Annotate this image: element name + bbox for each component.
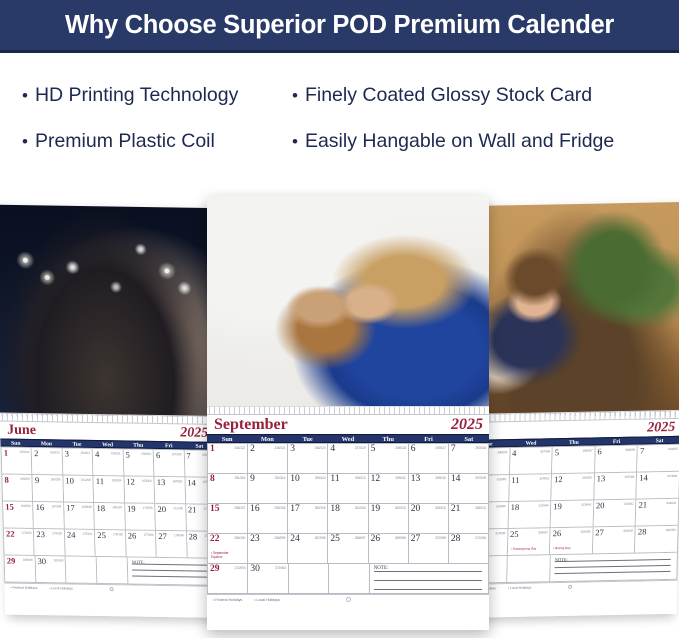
day-number: 30 <box>250 565 260 575</box>
day-cell[interactable]: 18321/044 <box>508 501 551 529</box>
day-number: 1 <box>4 449 8 458</box>
day-cell[interactable]: 27178/188 <box>156 531 187 558</box>
day-number: 5 <box>371 445 376 455</box>
product-infographic: Why Choose Superior POD Premium Calender… <box>0 0 679 638</box>
note-line <box>374 571 482 572</box>
julian-day-counter: 260/105 <box>315 506 326 510</box>
day-number: 3 <box>65 450 69 459</box>
day-cell[interactable]: 5156/210 <box>123 449 154 476</box>
calendar-november: r2025TueWedThuFriSat3306/0594307/0585308… <box>462 202 679 618</box>
day-number: 27 <box>595 528 604 537</box>
feature-item-plastic-coil: • Premium Plastic Coil <box>22 130 215 153</box>
week-row: 1244/1222245/1213246/1204247/1195248/118… <box>208 444 489 474</box>
month-label: September <box>214 417 288 433</box>
julian-day-counter: 271/094 <box>475 536 486 540</box>
julian-day-counter: 269/096 <box>395 536 406 540</box>
day-cell[interactable] <box>507 555 551 583</box>
day-number: 15 <box>210 505 220 515</box>
feature-item-hd-printing: • HD Printing Technology <box>22 84 238 107</box>
day-number: 11 <box>96 477 104 486</box>
julian-day-counter: 328/037 <box>538 530 548 534</box>
day-number: 14 <box>451 475 461 485</box>
julian-day-counter: 270/095 <box>435 536 446 540</box>
day-number: 6 <box>411 445 416 455</box>
legend-item-local: • Local Holidays <box>508 586 532 590</box>
day-number: 20 <box>411 505 421 515</box>
day-cell[interactable]: 7310/055 <box>637 445 679 473</box>
year-label: 2025 <box>180 426 208 440</box>
weekday-sun: Sun <box>0 440 31 446</box>
note-writing-lines[interactable] <box>132 564 212 583</box>
day-cell[interactable]: 22173/193 <box>4 529 35 556</box>
day-cell[interactable]: 23174/192 <box>34 529 65 556</box>
julian-day-counter: 169/197 <box>112 505 122 509</box>
day-number: 24 <box>67 531 76 540</box>
julian-day-counter: 168/198 <box>82 505 92 509</box>
day-cell[interactable]: 11314/051 <box>509 474 552 502</box>
julian-day-counter: 324/041 <box>666 501 676 505</box>
day-number: 10 <box>65 477 74 486</box>
day-cell[interactable]: 1152/214 <box>2 448 33 475</box>
day-number: 18 <box>511 503 520 512</box>
julian-day-counter: 177/189 <box>143 533 153 537</box>
day-number: 28 <box>638 527 647 536</box>
day-cell[interactable]: 17260/105 <box>288 504 328 534</box>
julian-day-counter: 254/112 <box>355 476 366 480</box>
day-cell[interactable]: 10161/205 <box>63 476 94 503</box>
julian-day-counter: 157/209 <box>172 452 182 456</box>
day-cell[interactable]: 25268/097 <box>328 534 368 564</box>
julian-day-counter: 308/057 <box>583 448 593 452</box>
day-number: 18 <box>96 504 105 513</box>
julian-day-counter: 264/101 <box>475 506 486 510</box>
day-number: 12 <box>371 475 381 485</box>
day-cell[interactable]: 6249/117 <box>409 444 449 474</box>
julian-day-counter: 246/120 <box>315 446 326 450</box>
julian-day-counter: 321/044 <box>539 503 549 507</box>
julian-day-counter: 307/058 <box>540 449 550 453</box>
note-cell[interactable]: NOTE: <box>370 564 489 594</box>
day-cell[interactable]: 13316/049 <box>594 473 637 501</box>
weekday-wed: Wed <box>510 439 553 446</box>
day-cell[interactable]: 3246/120 <box>288 444 328 474</box>
day-number: 14 <box>187 478 196 487</box>
day-number: 26 <box>553 529 562 538</box>
day-number: 19 <box>371 505 381 515</box>
day-cell[interactable]: 19322/043 <box>551 500 594 528</box>
julian-day-counter: 166/200 <box>21 504 31 508</box>
day-cell[interactable]: 6157/209 <box>154 450 185 477</box>
weekday-thu: Thu <box>552 438 595 445</box>
julian-day-counter: 244/122 <box>234 446 245 450</box>
day-cell[interactable]: 4155/211 <box>93 449 124 476</box>
day-number: 26 <box>128 531 137 540</box>
year-label: 2025 <box>451 417 483 433</box>
weekday-thu: Thu <box>368 435 408 442</box>
bullet-icon: • <box>22 133 28 150</box>
julian-day-counter: 320/045 <box>496 504 506 508</box>
julian-day-counter: 329/036 <box>580 529 590 533</box>
header-banner: Why Choose Superior POD Premium Calender <box>0 0 679 53</box>
day-cell[interactable]: 12255/111 <box>369 474 409 504</box>
julian-day-counter: 171/195 <box>173 506 183 510</box>
day-number: 12 <box>126 477 135 486</box>
calendar-header: September2025 <box>207 415 489 434</box>
weekday-wed: Wed <box>92 441 123 447</box>
day-cell[interactable]: 15166/200 <box>3 502 34 529</box>
week-row: 1152/2142153/2133154/2124155/2115156/210… <box>2 448 216 478</box>
day-cell[interactable]: 1244/122 <box>208 444 248 474</box>
day-cell[interactable] <box>97 557 128 584</box>
day-cell[interactable]: 11162/204 <box>94 476 125 503</box>
julian-day-counter: 313/052 <box>497 477 507 481</box>
week-row: 8251/1159252/11410253/11311254/11212255/… <box>208 474 489 504</box>
day-number: 7 <box>186 451 190 460</box>
julian-day-counter: 331/034 <box>666 528 676 532</box>
day-number: 16 <box>250 505 260 515</box>
hanging-punch-hole <box>346 597 351 602</box>
day-cell[interactable]: 24175/191 <box>65 529 96 556</box>
julian-day-counter: 272/093 <box>235 566 246 570</box>
julian-day-counter: 245/121 <box>274 446 285 450</box>
julian-day-counter: 327/038 <box>495 531 505 535</box>
day-number: 14 <box>639 473 648 482</box>
julian-day-counter: 257/109 <box>475 476 486 480</box>
day-number: 28 <box>189 532 198 541</box>
day-cell[interactable]: 12163/203 <box>124 476 155 503</box>
holiday-annotation: • Boxing Day <box>553 547 570 551</box>
day-cell[interactable]: 6309/056 <box>595 446 638 474</box>
weekday-sun: Sun <box>207 435 247 442</box>
day-cell[interactable]: 12315/050 <box>551 473 594 501</box>
week-row: 8159/2079160/20610161/20511162/20412163/… <box>2 475 216 505</box>
weekday-thu: Thu <box>123 441 154 447</box>
day-number: 9 <box>250 475 255 485</box>
day-cell[interactable]: 25328/037• Thanksgiving Day <box>507 528 550 556</box>
day-number: 27 <box>158 532 167 541</box>
day-number: 5 <box>555 448 559 457</box>
day-number: 2 <box>250 445 255 455</box>
day-number: 12 <box>554 475 563 484</box>
day-cell[interactable]: 8251/115 <box>208 474 248 504</box>
day-number: 21 <box>451 505 461 515</box>
day-cell[interactable]: 2245/121 <box>248 444 288 474</box>
day-cell[interactable]: 19262/103 <box>369 504 409 534</box>
julian-day-counter: 162/204 <box>111 478 121 482</box>
julian-day-counter: 174/192 <box>52 531 62 535</box>
week-row: 10313/05211314/05112315/05013316/0491431… <box>466 472 679 503</box>
day-cell[interactable] <box>66 556 97 583</box>
spiral-coil-binding <box>207 406 489 415</box>
day-cell[interactable]: 26269/096 <box>369 534 409 564</box>
weekday-tue: Tue <box>62 441 93 447</box>
feature-label: Finely Coated Glossy Stock Card <box>305 84 592 107</box>
day-cell[interactable]: 28331/034 <box>635 526 678 554</box>
day-cell[interactable]: 23266/099 <box>248 534 288 564</box>
day-number: 25 <box>330 535 340 545</box>
note-line <box>132 564 211 566</box>
julian-day-counter: 255/111 <box>395 476 405 480</box>
weekday-mon: Mon <box>247 435 287 442</box>
note-writing-lines[interactable] <box>554 559 671 579</box>
note-cell[interactable]: NOTE: <box>128 557 219 585</box>
day-number: 1 <box>210 445 215 455</box>
day-number: 28 <box>451 535 461 545</box>
day-number: 9 <box>35 476 39 485</box>
hanging-punch-hole <box>568 585 573 590</box>
day-cell[interactable]: 21264/101 <box>449 504 489 534</box>
julian-day-counter: 248/118 <box>395 446 406 450</box>
day-number: 19 <box>127 504 136 513</box>
hanging-punch-hole <box>109 587 114 592</box>
day-cell[interactable]: 24267/098 <box>288 534 328 564</box>
week-row: 17320/04518321/04419322/04320323/0422132… <box>466 499 679 530</box>
day-number: 10 <box>290 475 300 485</box>
day-cell[interactable]: 22265/100• September Equinox <box>208 534 248 564</box>
note-cell[interactable]: NOTE: <box>550 553 678 582</box>
day-number: 17 <box>290 505 300 515</box>
weeks-container: 1244/1222245/1213246/1204247/1195248/118… <box>207 443 489 594</box>
julian-day-counter: 261/104 <box>355 506 366 510</box>
julian-day-counter: 153/213 <box>50 450 60 454</box>
julian-day-counter: 152/214 <box>19 450 29 454</box>
day-number: 15 <box>5 503 14 512</box>
day-cell[interactable]: 28271/094 <box>449 534 489 564</box>
day-cell[interactable]: 20263/102 <box>409 504 449 534</box>
month-label: June <box>7 424 36 438</box>
day-number: 11 <box>330 475 339 485</box>
day-number: 8 <box>210 475 215 485</box>
weeks-container: 3306/0594307/0585308/0576309/0567310/055… <box>463 444 679 584</box>
day-number: 19 <box>553 502 562 511</box>
day-cell[interactable]: 18169/197 <box>94 503 125 530</box>
day-number: 25 <box>510 530 519 539</box>
julian-day-counter: 315/050 <box>582 475 592 479</box>
day-cell[interactable]: 29180/186 <box>5 556 36 583</box>
holiday-annotation: • Thanksgiving Day <box>511 547 537 551</box>
day-number: 3 <box>290 445 295 455</box>
day-number: 29 <box>210 565 220 575</box>
julian-day-counter: 267/098 <box>315 536 326 540</box>
day-cell[interactable]: 7250/116 <box>449 444 489 474</box>
day-cell[interactable]: 26329/036• Boxing Day <box>550 527 593 555</box>
day-number: 11 <box>511 476 519 485</box>
day-number: 13 <box>157 478 166 487</box>
julian-day-counter: 176/190 <box>113 532 123 536</box>
week-row: 15258/10716259/10617260/10518261/1041926… <box>208 504 489 534</box>
julian-day-counter: 154/212 <box>80 451 90 455</box>
julian-day-counter: 167/199 <box>51 504 61 508</box>
julian-day-counter: 266/099 <box>274 536 285 540</box>
julian-day-counter: 323/042 <box>624 502 634 506</box>
julian-day-counter: 253/113 <box>315 476 326 480</box>
day-number: 21 <box>638 500 647 509</box>
day-number: 2 <box>34 449 38 458</box>
two-women-on-bed-photo <box>207 196 489 410</box>
day-number: 6 <box>156 451 160 460</box>
day-cell[interactable]: 21324/041 <box>636 499 679 527</box>
julian-day-counter: 156/210 <box>141 452 151 456</box>
day-cell[interactable] <box>329 564 369 594</box>
feature-label: HD Printing Technology <box>35 84 238 107</box>
week-row: 22173/19323174/19224175/19125176/1902617… <box>4 529 218 559</box>
day-number: 7 <box>640 447 644 456</box>
weekday-sat: Sat <box>638 437 679 444</box>
day-cell[interactable]: 2153/213 <box>32 448 63 475</box>
julian-day-counter: 163/203 <box>142 479 152 483</box>
weekday-header-bar: SunMonTueWedThuFriSat <box>207 434 489 443</box>
julian-day-counter: 252/114 <box>275 476 286 480</box>
note-writing-lines[interactable] <box>374 571 482 594</box>
julian-day-counter: 173/193 <box>22 531 32 535</box>
week-row: 29272/09330273/092NOTE: <box>208 564 489 594</box>
day-cell[interactable]: 20171/195 <box>155 504 186 531</box>
day-number: 29 <box>7 557 16 566</box>
feature-list: • HD Printing Technology • Finely Coated… <box>0 62 679 182</box>
day-cell[interactable]: 13256/110 <box>409 474 449 504</box>
day-number: 13 <box>411 475 421 485</box>
legend-item-federal: • Federal Holidays <box>213 598 242 602</box>
day-cell[interactable]: 5248/118 <box>369 444 409 474</box>
julian-day-counter: 314/051 <box>539 476 549 480</box>
day-cell[interactable]: 10253/113 <box>288 474 328 504</box>
day-cell[interactable]: 14257/109 <box>449 474 489 504</box>
julian-day-counter: 249/117 <box>435 446 446 450</box>
holiday-legend: • Federal Holidays• Local Holidays <box>207 594 489 603</box>
day-cell[interactable]: 16259/106 <box>248 504 288 534</box>
note-line <box>374 589 482 590</box>
day-number: 4 <box>330 445 335 455</box>
day-number: 16 <box>36 503 45 512</box>
day-cell[interactable]: 9160/206 <box>33 475 64 502</box>
julian-day-counter: 310/055 <box>668 447 678 451</box>
day-cell[interactable]: 30181/185 <box>35 556 66 583</box>
julian-day-counter: 247/119 <box>355 446 366 450</box>
calendar-grid-center: September2025SunMonTueWedThuFriSat1244/1… <box>207 415 489 630</box>
day-cell[interactable]: 26177/189 <box>126 530 157 557</box>
julian-day-counter: 259/106 <box>274 506 285 510</box>
day-cell[interactable]: 9252/114 <box>248 474 288 504</box>
day-cell[interactable]: 25176/190 <box>95 530 126 557</box>
day-cell[interactable]: 18261/104 <box>328 504 368 534</box>
julian-day-counter: 256/110 <box>435 476 446 480</box>
week-row: 3306/0594307/0585308/0576309/0567310/055 <box>467 445 679 476</box>
bullet-icon: • <box>292 133 298 150</box>
calendar-grid-right: r2025TueWedThuFriSat3306/0594307/0585308… <box>462 419 679 618</box>
day-number: 20 <box>157 505 166 514</box>
weekday-fri: Fri <box>595 438 638 445</box>
legend-item-federal: • Federal Holidays <box>10 586 37 590</box>
weekday-fri: Fri <box>153 442 184 448</box>
julian-day-counter: 258/107 <box>234 506 245 510</box>
day-cell[interactable]: 29272/093 <box>208 564 248 594</box>
day-number: 13 <box>597 474 606 483</box>
weeks-container: 1152/2142153/2133154/2124155/2115156/210… <box>1 447 219 586</box>
julian-day-counter: 250/116 <box>475 446 486 450</box>
day-cell[interactable]: 20323/042 <box>593 500 636 528</box>
day-number: 25 <box>97 531 106 540</box>
day-cell[interactable]: 30273/092 <box>248 564 288 594</box>
week-row: 24327/03825328/037• Thanksgiving Day2632… <box>465 526 679 557</box>
day-cell[interactable]: 5308/057 <box>552 446 595 474</box>
day-cell[interactable]: 13164/202 <box>155 477 186 504</box>
julian-day-counter: 268/097 <box>355 536 366 540</box>
day-cell[interactable]: 16167/199 <box>34 502 65 529</box>
day-number: 8 <box>4 476 8 485</box>
julian-day-counter: 181/185 <box>53 558 63 562</box>
day-number: 30 <box>37 557 46 566</box>
feature-label: Premium Plastic Coil <box>35 130 215 153</box>
julian-day-counter: 160/206 <box>51 477 61 481</box>
day-cell[interactable]: 27330/035 <box>593 527 636 555</box>
julian-day-counter: 316/049 <box>624 475 634 479</box>
day-cell[interactable]: 4307/058 <box>510 447 553 475</box>
julian-day-counter: 251/115 <box>235 476 246 480</box>
bullet-icon: • <box>292 87 298 104</box>
note-line <box>555 565 671 568</box>
day-cell[interactable]: 4247/119 <box>328 444 368 474</box>
day-cell[interactable]: 19170/196 <box>125 503 156 530</box>
julian-day-counter: 265/100 <box>234 536 245 540</box>
weekday-fri: Fri <box>408 435 448 442</box>
day-cell[interactable]: 3154/212 <box>63 449 94 476</box>
day-number: 5 <box>125 451 129 460</box>
julian-day-counter: 322/043 <box>581 502 591 506</box>
weekday-tue: Tue <box>288 435 328 442</box>
julian-day-counter: 170/196 <box>143 506 153 510</box>
julian-day-counter: 180/186 <box>23 558 33 562</box>
day-number: 21 <box>188 505 197 514</box>
year-label: 2025 <box>647 421 675 436</box>
day-cell[interactable] <box>289 564 329 594</box>
julian-day-counter: 309/056 <box>625 448 635 452</box>
wedding-sparklers-photo <box>0 205 214 420</box>
calendar-grid-left: June2025SunMonTueWedThuFriSat1152/214215… <box>0 422 219 618</box>
day-cell[interactable]: 11254/112 <box>328 474 368 504</box>
feature-item-glossy-stock: • Finely Coated Glossy Stock Card <box>292 84 592 107</box>
day-cell[interactable]: 17168/198 <box>64 502 95 529</box>
julian-day-counter: 330/035 <box>623 529 633 533</box>
day-number: 20 <box>596 501 605 510</box>
day-number: 23 <box>250 535 260 545</box>
day-cell[interactable]: 8159/207 <box>2 475 33 502</box>
julian-day-counter: 262/103 <box>395 506 406 510</box>
week-row: 15166/20016167/19917168/19818169/1971917… <box>3 502 217 532</box>
day-number: 26 <box>371 535 381 545</box>
day-cell[interactable]: 15258/107 <box>208 504 248 534</box>
weekday-wed: Wed <box>328 435 368 442</box>
julian-day-counter: 263/102 <box>435 506 446 510</box>
julian-day-counter: 306/059 <box>497 450 507 454</box>
julian-day-counter: 164/202 <box>172 479 182 483</box>
julian-day-counter: 175/191 <box>82 532 92 536</box>
week-row: 22265/100• September Equinox23266/099242… <box>208 534 489 564</box>
bullet-icon: • <box>22 87 28 104</box>
day-number: 22 <box>210 535 220 545</box>
julian-day-counter: 161/205 <box>81 478 91 482</box>
day-cell[interactable]: 14317/048 <box>637 472 679 500</box>
note-line <box>132 576 211 578</box>
day-cell[interactable]: 27270/095 <box>409 534 449 564</box>
weekday-sat: Sat <box>449 435 489 442</box>
week-row: NOTE: <box>464 553 678 584</box>
day-number: 22 <box>6 530 15 539</box>
note-line <box>374 580 482 581</box>
holiday-annotation: • September Equinox <box>211 551 229 559</box>
day-number: 4 <box>512 449 516 458</box>
legend-item-local: • Local Holidays <box>49 586 73 590</box>
page-title: Why Choose Superior POD Premium Calender <box>65 11 614 40</box>
